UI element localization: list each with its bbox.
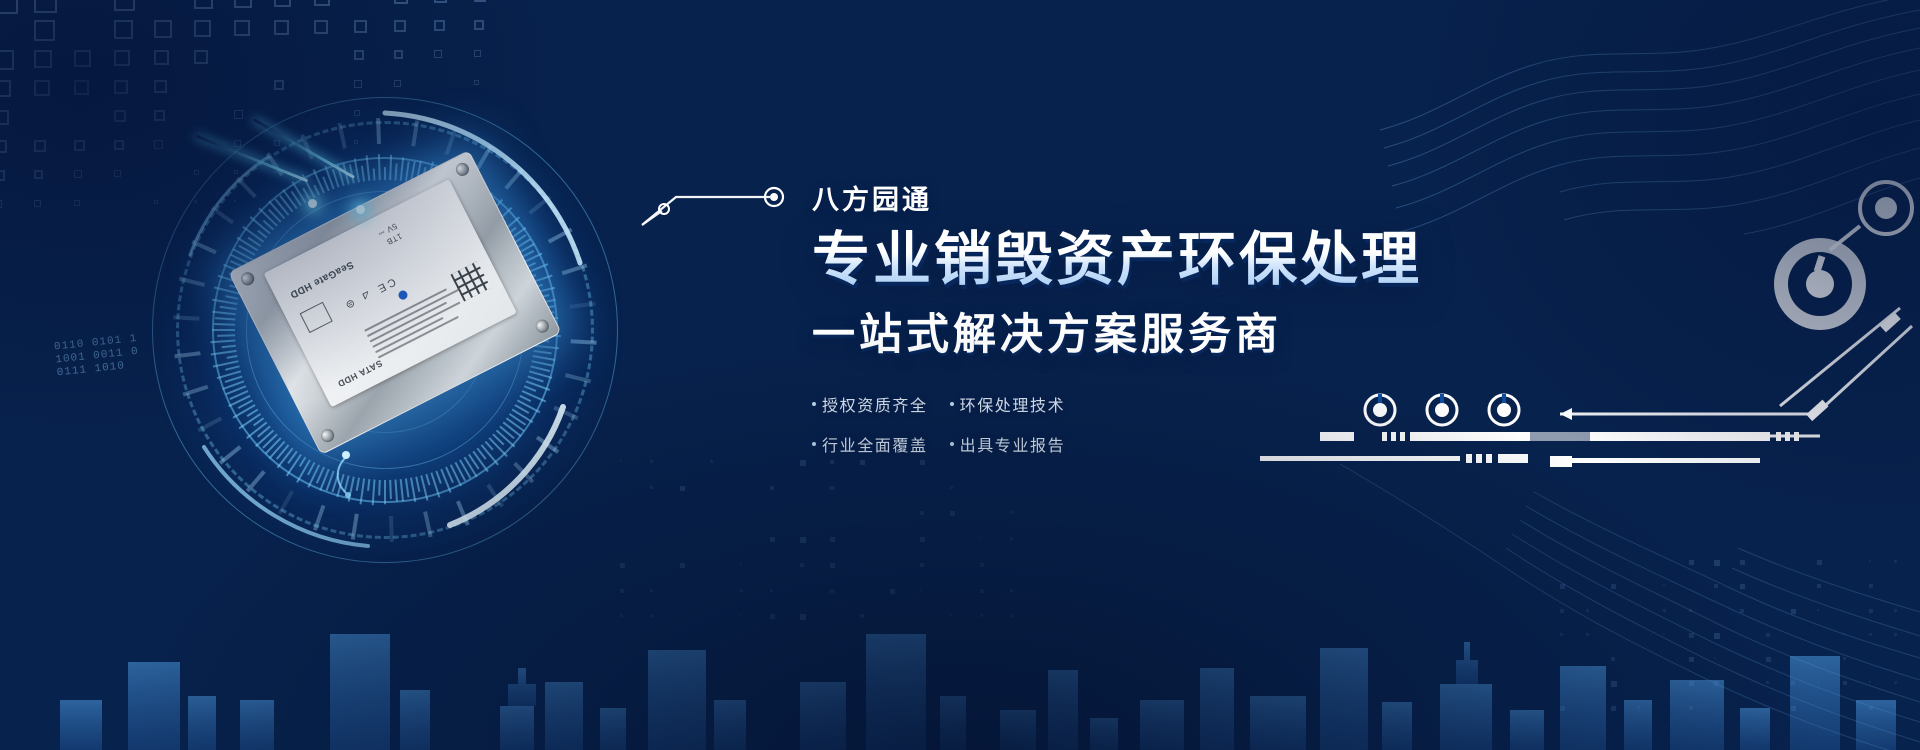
mosaic-square: [474, 80, 479, 85]
list-item: 授权资质齐全: [812, 392, 928, 416]
mosaic-square: [114, 0, 135, 11]
mosaic-square: [34, 170, 43, 179]
list-item: 行业全面覆盖: [812, 432, 928, 456]
mosaic-square: [114, 110, 126, 122]
mosaic-square: [394, 20, 406, 32]
mosaic-square: [474, 0, 486, 2]
mosaic-square: [0, 110, 9, 125]
mosaic-square: [194, 0, 213, 9]
decorative-dot: [920, 537, 925, 542]
decorative-dot: [650, 486, 653, 489]
mosaic-square: [394, 80, 401, 87]
banner-copy: 八方园通 专业销毁资产环保处理 一站式解决方案服务商 授权资质齐全 环保处理技术…: [812, 178, 1532, 472]
pointer-connector-line-icon: [640, 175, 810, 230]
bullet-label: 环保处理技术: [960, 392, 1066, 416]
decorative-dot: [950, 511, 955, 516]
mosaic-square: [114, 140, 124, 150]
mosaic-square: [34, 140, 46, 152]
mosaic-square: [0, 0, 18, 14]
mosaic-square: [274, 0, 291, 7]
mosaic-square: [434, 0, 447, 3]
mosaic-square: [0, 80, 11, 97]
mosaic-square: [434, 50, 442, 58]
bullet-label: 出具专业报告: [960, 432, 1066, 456]
mosaic-square: [234, 20, 250, 36]
mosaic-square: [0, 200, 2, 208]
decorative-dot: [800, 460, 806, 466]
decorative-dot: [680, 486, 685, 491]
mosaic-square: [114, 50, 130, 66]
mosaic-square: [0, 140, 7, 153]
mosaic-square: [194, 50, 208, 64]
bullet-dot-icon: [950, 442, 954, 446]
mosaic-square: [114, 170, 121, 177]
bullet-label: 授权资质齐全: [822, 392, 928, 416]
mosaic-square: [354, 20, 367, 33]
bullet-row: 授权资质齐全 环保处理技术: [812, 392, 1092, 416]
mosaic-square: [74, 200, 80, 206]
mosaic-square: [154, 50, 169, 65]
page-title: 专业销毁资产环保处理: [812, 229, 1532, 290]
mosaic-square: [74, 50, 91, 67]
decorative-dot: [920, 511, 924, 515]
mosaic-square: [274, 80, 284, 90]
decorative-dot: [950, 486, 953, 489]
bullet-dot-icon: [950, 402, 954, 406]
decorative-dot: [830, 537, 835, 542]
mosaic-square: [314, 20, 328, 34]
page-subtitle: 一站式解决方案服务商: [812, 300, 1532, 362]
mosaic-square: [34, 200, 41, 207]
brand-name: 八方园通: [812, 178, 1532, 217]
decorative-dot: [770, 486, 774, 490]
decorative-dot: [770, 537, 775, 542]
promo-banner: SeaGate HDD 5V ⎓ 1TB SATA HDD CE ⊿ ⊜: [0, 0, 1920, 750]
mosaic-square: [34, 50, 52, 68]
mosaic-square: [354, 80, 362, 88]
decorative-dot: [980, 537, 982, 539]
mosaic-square: [34, 0, 57, 13]
bullet-row: 行业全面覆盖 出具专业报告: [812, 432, 1092, 456]
mosaic-square: [234, 0, 252, 8]
decorative-dot: [800, 537, 806, 543]
mosaic-square: [74, 170, 82, 178]
mosaic-square: [34, 80, 50, 96]
mosaic-square: [434, 20, 445, 31]
mosaic-square: [0, 170, 5, 181]
mosaic-square: [474, 50, 481, 57]
decorative-dot: [1010, 511, 1013, 514]
mosaic-square: [114, 80, 128, 94]
mosaic-square: [0, 50, 14, 70]
circuit-pad-right-icon: [1800, 168, 1920, 258]
mosaic-square: [154, 80, 167, 93]
decorative-dot: [1010, 537, 1013, 540]
mosaic-square: [394, 0, 408, 4]
decorative-dot: [830, 486, 834, 490]
mosaic-square: [474, 20, 484, 30]
mosaic-square: [394, 50, 403, 59]
mosaic-square: [314, 0, 330, 6]
mosaic-square: [74, 80, 89, 95]
mosaic-square: [194, 20, 211, 37]
decorative-dot: [650, 460, 653, 463]
bullet-dot-icon: [812, 442, 816, 446]
decorative-dot: [710, 460, 713, 463]
feature-bullet-list: 授权资质齐全 环保处理技术 行业全面覆盖 出具专业报告: [812, 392, 1092, 456]
mosaic-square: [114, 20, 133, 39]
mosaic-square: [354, 50, 364, 60]
mosaic-square: [274, 20, 289, 35]
mosaic-square: [154, 20, 172, 38]
bullet-label: 行业全面覆盖: [822, 432, 928, 456]
bullet-dot-icon: [812, 402, 816, 406]
list-item: 环保处理技术: [950, 392, 1066, 416]
mosaic-square: [74, 140, 85, 151]
list-item: 出具专业报告: [950, 432, 1066, 456]
city-skyline-silhouette: [0, 550, 1920, 750]
decorative-dot: [620, 460, 622, 462]
mosaic-square: [34, 20, 55, 41]
